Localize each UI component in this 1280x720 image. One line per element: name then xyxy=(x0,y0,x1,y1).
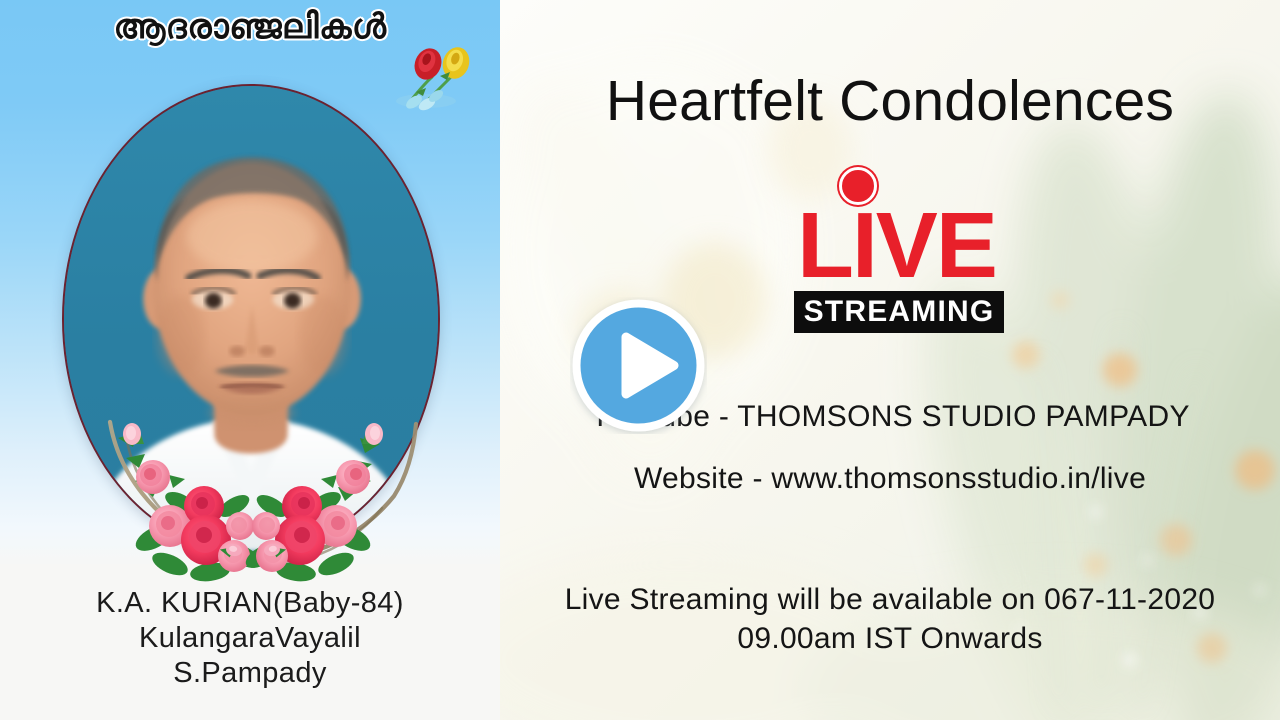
malayalam-tribute-heading: ആദരാഞ്ജലികൾ xyxy=(0,8,500,47)
streaming-bar: STREAMING xyxy=(794,291,1004,333)
deceased-place: S.Pampady xyxy=(0,656,500,691)
memorial-panel: ആദരാഞ്ജലികൾ xyxy=(0,0,500,720)
schedule-block: Live Streaming will be available on 067-… xyxy=(500,580,1280,658)
deceased-house-name: KulangaraVayalil xyxy=(0,621,500,656)
portrait-frame xyxy=(62,84,440,554)
schedule-time-line: 09.00am IST Onwards xyxy=(500,619,1280,658)
page-title: Heartfelt Condolences xyxy=(500,68,1280,134)
deceased-name-block: K.A. KURIAN(Baby-84) KulangaraVayalil S.… xyxy=(0,586,500,691)
condolence-live-stream-card: ആദരാഞ്ജലികൾ xyxy=(0,0,1280,720)
live-stream-info-panel: Heartfelt Condolences LIVE STREAMING You… xyxy=(500,0,1280,720)
live-streaming-badge: LIVE STREAMING xyxy=(789,167,1004,339)
live-label: LIVE xyxy=(789,199,1004,292)
streaming-label: STREAMING xyxy=(804,297,995,327)
portrait-photo xyxy=(64,86,438,551)
schedule-date-line: Live Streaming will be available on 067-… xyxy=(500,580,1280,619)
website-line[interactable]: Website - www.thomsonsstudio.in/live xyxy=(500,460,1280,498)
deceased-name: K.A. KURIAN(Baby-84) xyxy=(0,586,500,621)
play-button[interactable] xyxy=(570,297,707,434)
rose-bouquet-icon xyxy=(378,46,488,112)
